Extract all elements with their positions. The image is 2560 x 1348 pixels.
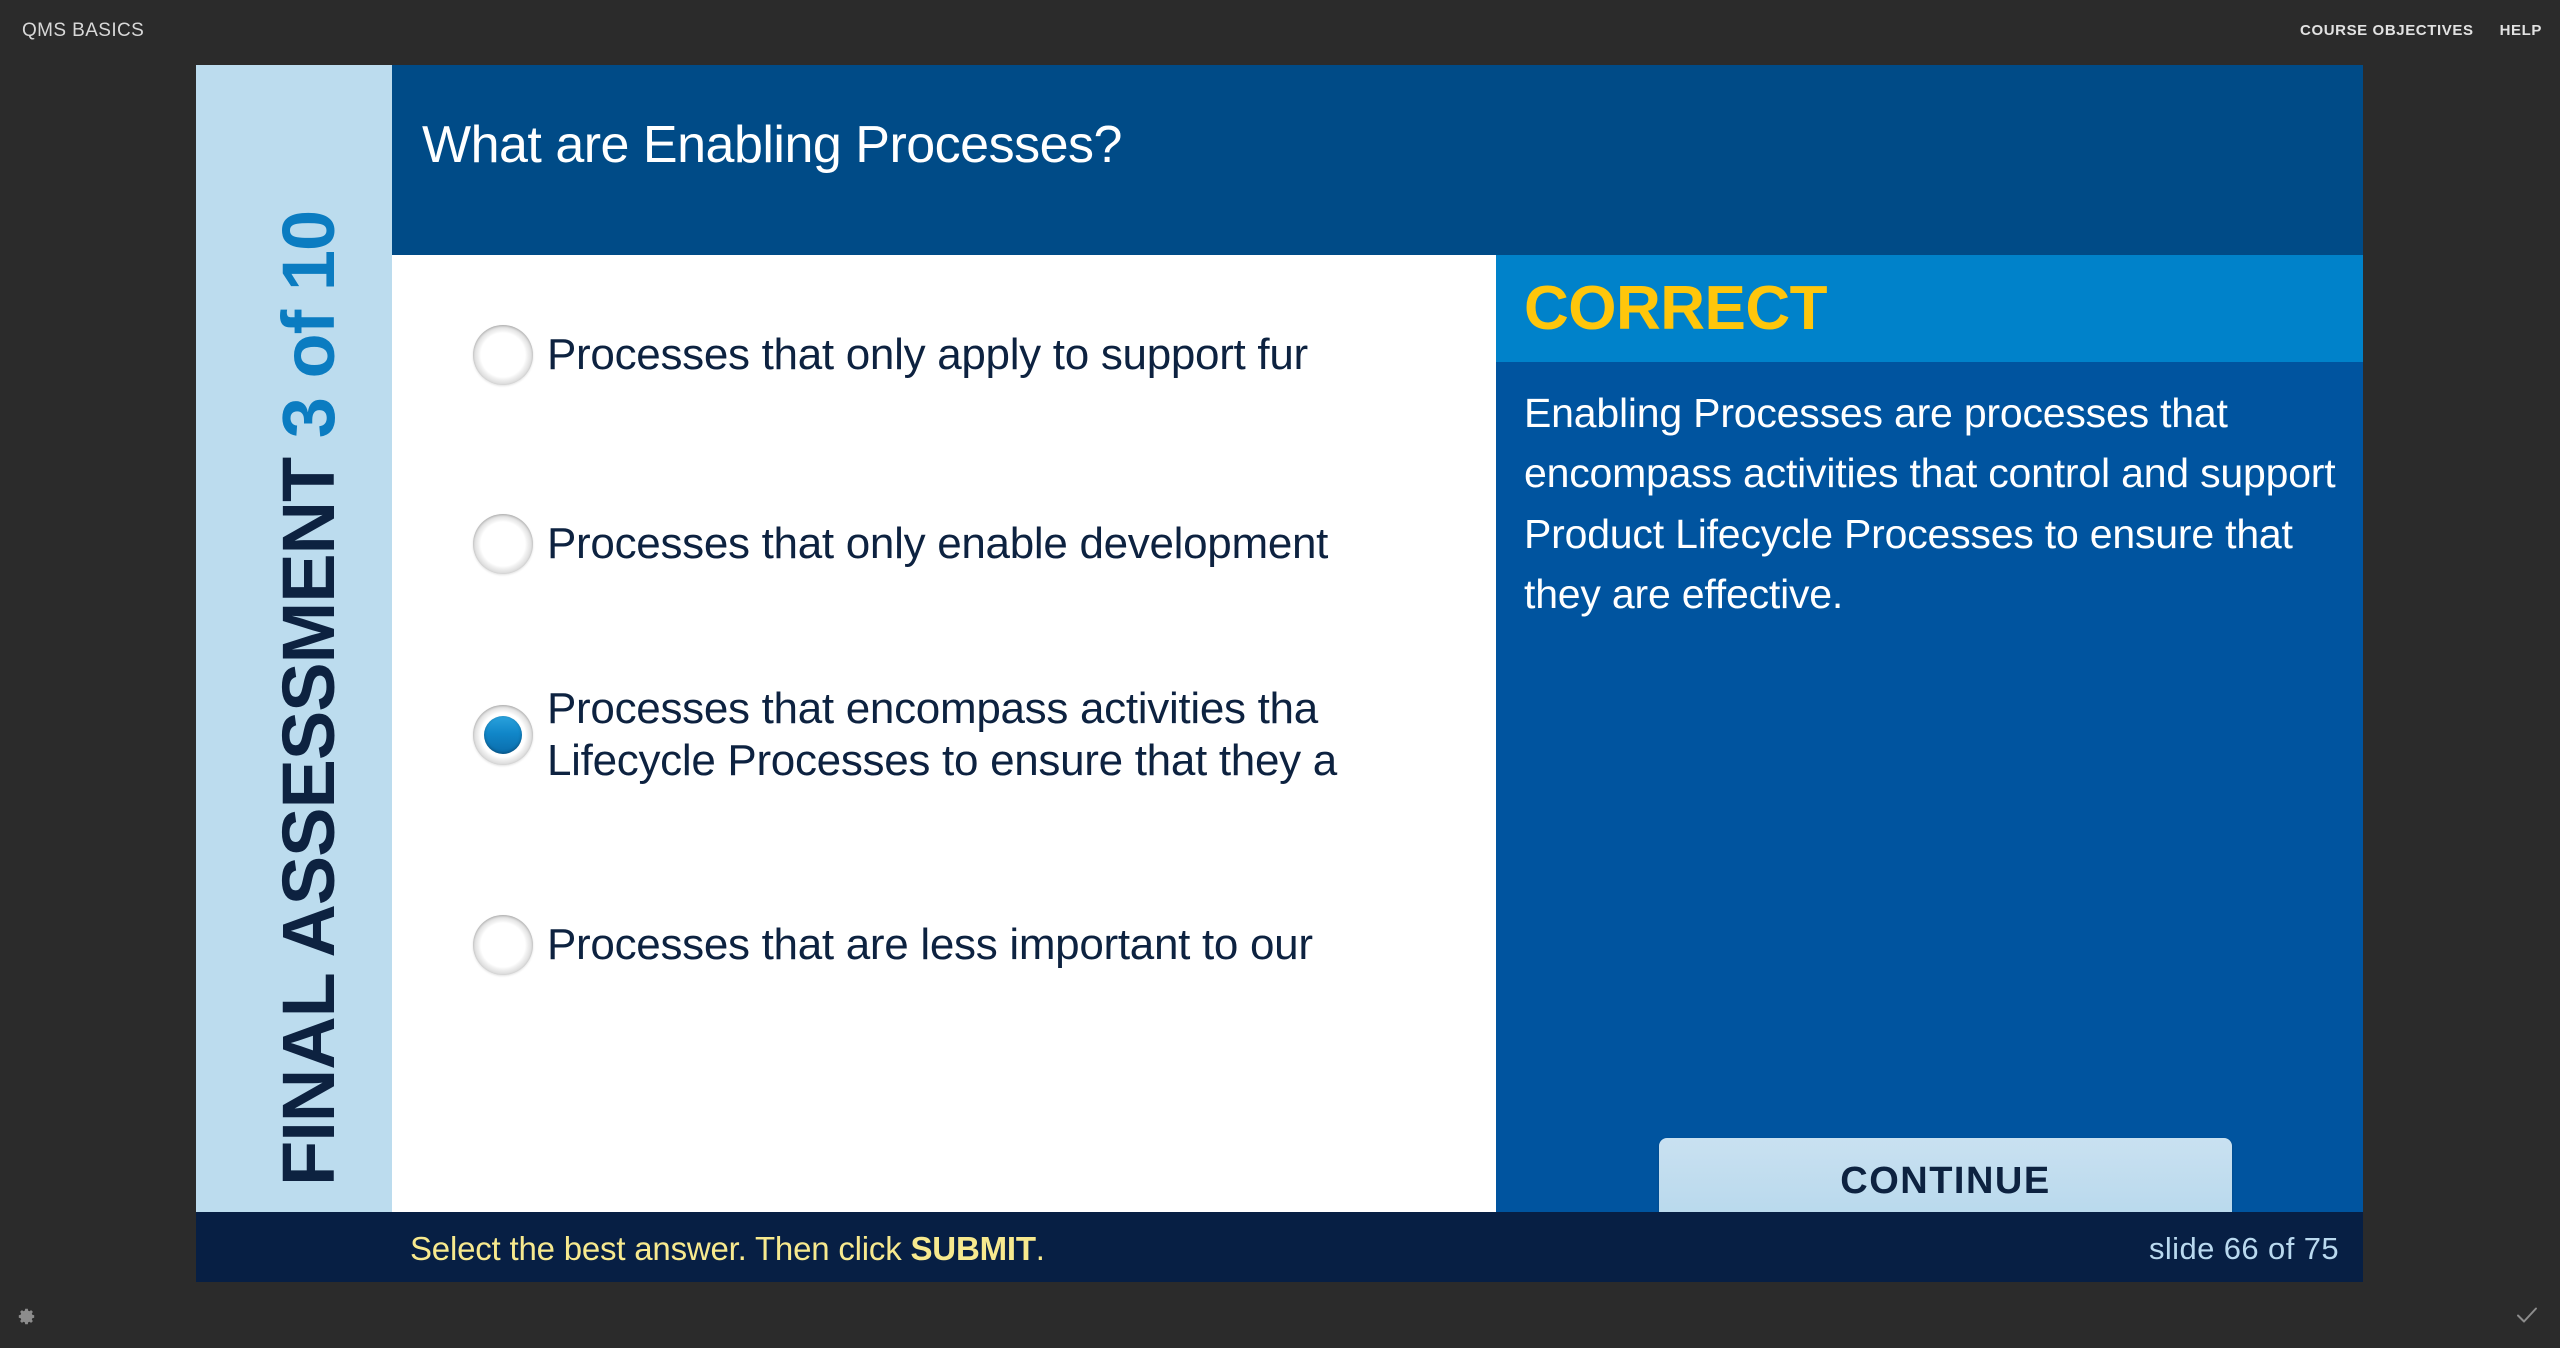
assessment-side-strip: FINAL ASSESSMENT 3 of 10 (196, 65, 392, 1212)
gear-icon[interactable] (14, 1302, 38, 1326)
answer-label-b: Processes that only enable development (547, 518, 1328, 570)
assessment-progress: 3 of 10 (267, 211, 350, 438)
feedback-status-title: CORRECT (1524, 273, 1827, 344)
slide-counter: slide 66 of 75 (2149, 1231, 2339, 1267)
radio-button-b[interactable] (473, 514, 533, 574)
assessment-label: FINAL ASSESSMENT (267, 438, 350, 1186)
question-header: What are Enabling Processes? (392, 65, 2363, 255)
course-title: QMS BASICS (22, 20, 144, 42)
slide-stage: FINAL ASSESSMENT 3 of 10 What are Enabli… (196, 65, 2363, 1282)
instruction-prefix: Select the best answer. Then click (410, 1230, 911, 1267)
check-icon[interactable] (2514, 1302, 2540, 1328)
radio-button-d[interactable] (473, 915, 533, 975)
answer-label-c: Processes that encompass activities tha … (547, 683, 1337, 787)
instruction-submit-word: SUBMIT (911, 1230, 1036, 1267)
feedback-header: CORRECT (1496, 255, 2363, 362)
instruction-text: Select the best answer. Then click SUBMI… (410, 1230, 1045, 1268)
feedback-panel: CORRECT Enabling Processes are processes… (1496, 255, 2363, 1212)
player-bottom-bar (0, 1282, 2560, 1348)
slide-footer-bar: Select the best answer. Then click SUBMI… (196, 1212, 2363, 1282)
top-nav: COURSE OBJECTIVES HELP (2300, 22, 2542, 39)
instruction-suffix: . (1036, 1230, 1045, 1267)
radio-button-a[interactable] (473, 325, 533, 385)
course-objectives-link[interactable]: COURSE OBJECTIVES (2300, 22, 2474, 39)
answer-label-a: Processes that only apply to support fur (547, 329, 1308, 381)
help-link[interactable]: HELP (2500, 22, 2542, 39)
player-top-bar: QMS BASICS COURSE OBJECTIVES HELP (0, 0, 2560, 64)
feedback-body-text: Enabling Processes are processes that en… (1524, 383, 2364, 624)
radio-button-c[interactable] (473, 705, 533, 765)
question-title: What are Enabling Processes? (422, 115, 1122, 175)
answer-label-d: Processes that are less important to our (547, 919, 1313, 971)
